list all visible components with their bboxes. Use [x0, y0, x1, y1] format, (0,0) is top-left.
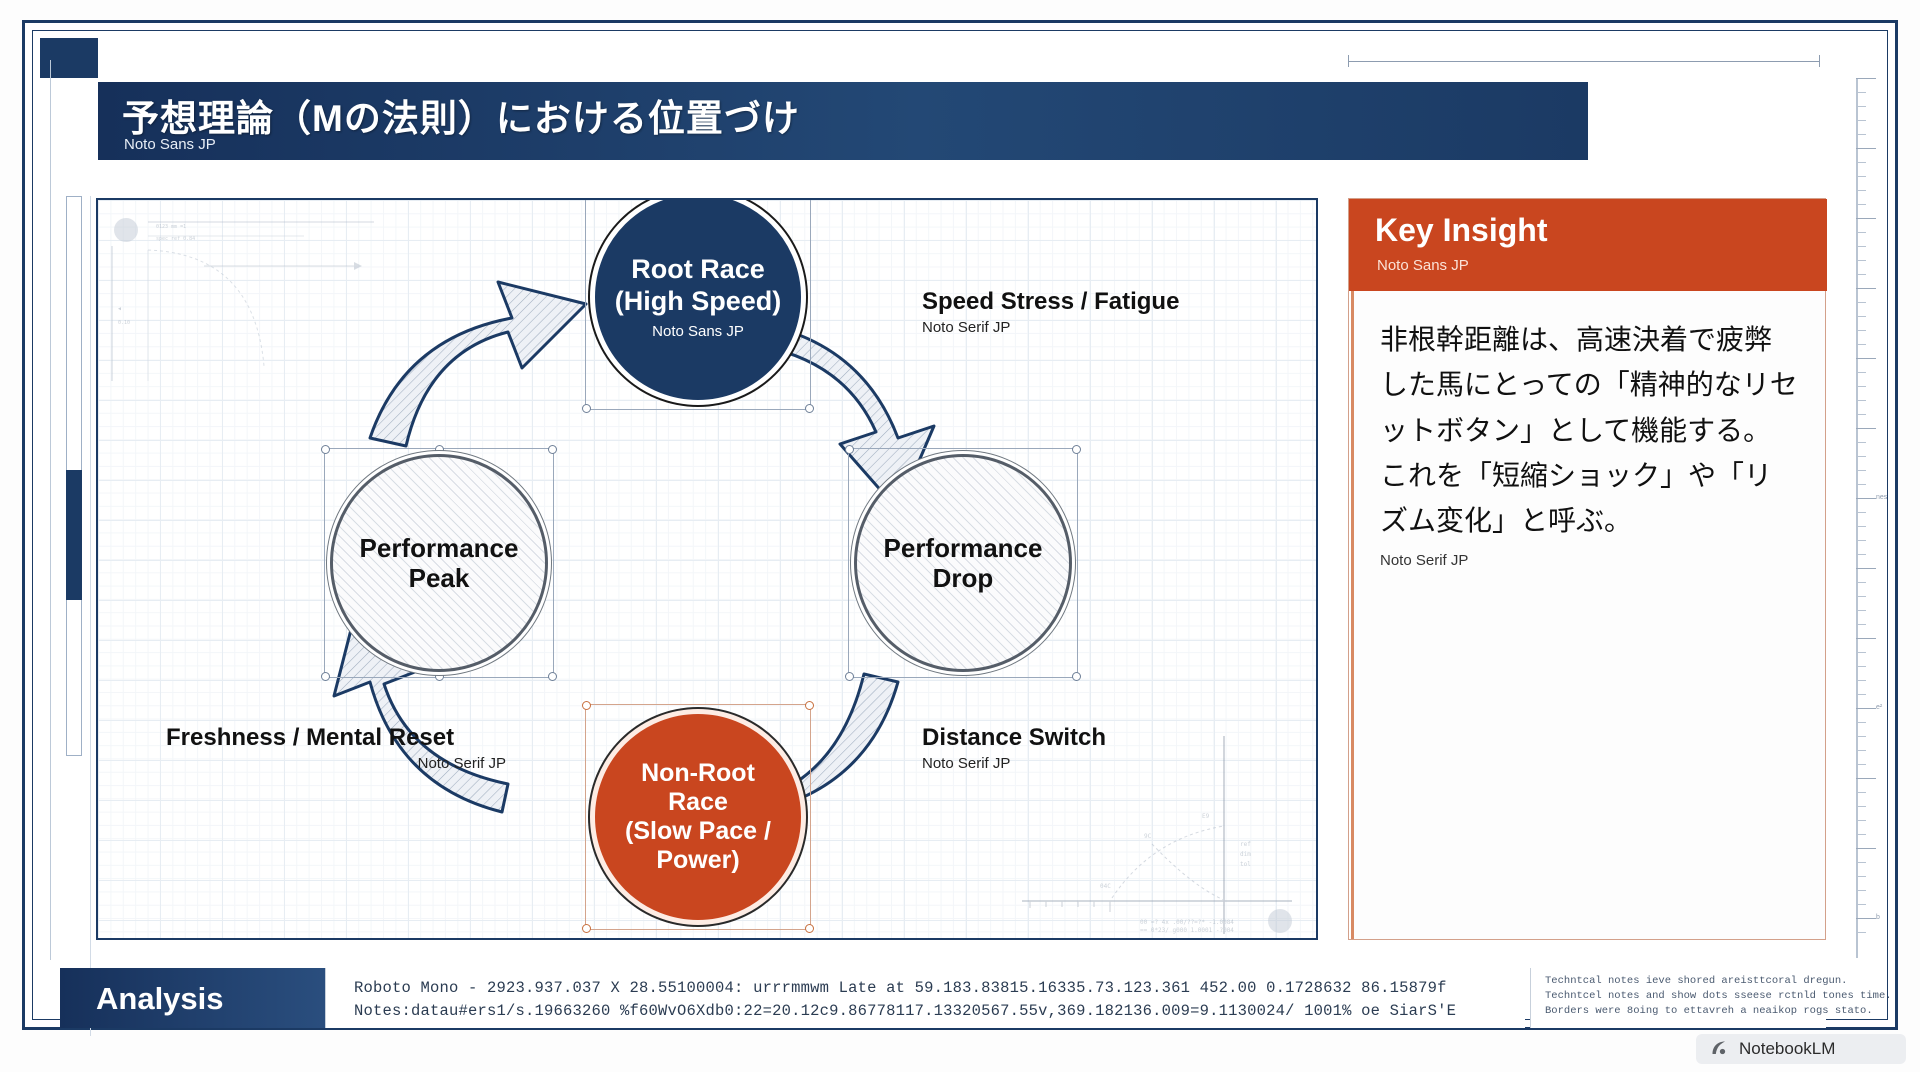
- key-insight-card: Key Insight Noto Sans JP 非根幹距離は、高速決着で疲弊し…: [1348, 198, 1826, 940]
- ruler-label: e²: [1876, 704, 1882, 711]
- ruler-tick: [1856, 792, 1866, 793]
- measurement-bracket: [1348, 55, 1820, 67]
- node-performance-drop-line2: Drop: [884, 563, 1043, 593]
- ruler-tick: [1856, 638, 1876, 639]
- ruler-tick: [1856, 358, 1876, 359]
- ruler-tick: [1856, 680, 1866, 681]
- ruler-tick: [1856, 666, 1866, 667]
- analysis-tab[interactable]: Analysis: [60, 968, 325, 1028]
- analysis-tab-label: Analysis: [96, 981, 224, 1017]
- ruler-tick: [1856, 540, 1866, 541]
- ruler-tick: [1856, 806, 1866, 807]
- node-root-race-line2: (High Speed): [615, 286, 782, 317]
- ruler-tick: [1856, 498, 1876, 499]
- resize-handle-br[interactable]: [805, 924, 814, 933]
- ruler-tick: [1856, 820, 1866, 821]
- ruler-tick: [1856, 190, 1866, 191]
- ruler-tick: [1856, 106, 1866, 107]
- flow-label-speed-stress-font-note: Noto Serif JP: [922, 319, 1179, 336]
- ruler-tick: [1856, 862, 1866, 863]
- notebooklm-watermark-label: NotebookLM: [1739, 1039, 1835, 1059]
- ruler-tick: [1856, 134, 1866, 135]
- ruler-tick: [1856, 778, 1876, 779]
- ruler-tick: [1856, 456, 1866, 457]
- ruler-tick: [1856, 708, 1876, 709]
- footer-mono-line-1: Roboto Mono - 2923.937.037 X 28.55100004…: [354, 977, 1525, 1000]
- resize-handle-tr[interactable]: [548, 445, 557, 454]
- left-guide-line: [50, 60, 51, 960]
- resize-handle-bl[interactable]: [582, 924, 591, 933]
- footer-notes-line-1: Techntcal notes ieve shored areisttcoral…: [1545, 974, 1826, 989]
- ruler-tick: [1856, 176, 1866, 177]
- ruler-tick: [1856, 750, 1866, 751]
- resize-handle-br[interactable]: [548, 672, 557, 681]
- node-performance-peak[interactable]: Performance Peak: [330, 454, 548, 672]
- ruler-tick: [1856, 260, 1866, 261]
- ruler-tick: [1856, 316, 1866, 317]
- flow-label-distance-switch-font-note: Noto Serif JP: [922, 755, 1106, 772]
- resize-handle-bc[interactable]: [435, 672, 444, 681]
- key-insight-body: 非根幹距離は、高速決着で疲弊した馬にとっての「精神的なリセットボタン」として機能…: [1351, 291, 1825, 939]
- flow-label-freshness-text: Freshness / Mental Reset: [166, 724, 506, 752]
- footer-notes-line-2: Techntcel notes and show dots sseese rct…: [1545, 989, 1826, 1004]
- node-non-root-race[interactable]: Non-Root Race (Slow Pace / Power): [590, 709, 806, 925]
- ruler-tick: [1856, 274, 1866, 275]
- ruler-tick: [1856, 400, 1866, 401]
- resize-handle-tl[interactable]: [582, 701, 591, 710]
- ruler-tick: [1856, 890, 1866, 891]
- ruler-tick: [1856, 372, 1866, 373]
- ruler-tick: [1856, 722, 1866, 723]
- ruler-tick: [1856, 610, 1866, 611]
- key-insight-title: Key Insight: [1375, 212, 1547, 249]
- node-performance-drop[interactable]: Performance Drop: [854, 454, 1072, 672]
- ruler-tick: [1856, 428, 1876, 429]
- ruler-tick: [1856, 386, 1866, 387]
- node-non-root-race-line1: Non-Root: [625, 759, 771, 788]
- ruler-tick: [1856, 330, 1866, 331]
- resize-handle-tc[interactable]: [435, 445, 444, 454]
- ruler-tick: [1856, 582, 1866, 583]
- node-root-race-line1: Root Race: [615, 254, 782, 285]
- ruler-tick: [1856, 344, 1866, 345]
- resize-handle-tl[interactable]: [321, 445, 330, 454]
- ruler-tick: [1856, 148, 1876, 149]
- footer-notes-line-3: Borders were 8oing to ettavreh a neaikop…: [1545, 1004, 1826, 1019]
- flow-label-freshness: Freshness / Mental Reset Noto Serif JP: [166, 724, 506, 772]
- flow-label-speed-stress: Speed Stress / Fatigue Noto Serif JP: [922, 288, 1179, 336]
- flow-label-freshness-font-note: Noto Serif JP: [166, 755, 506, 772]
- flow-label-distance-switch: Distance Switch Noto Serif JP: [922, 724, 1106, 772]
- ruler-tick: [1856, 470, 1866, 471]
- footer-bar: Analysis Roboto Mono - 2923.937.037 X 28…: [60, 968, 1826, 1028]
- ruler-tick: [1856, 652, 1866, 653]
- ruler-tick: [1856, 764, 1866, 765]
- ruler-tick: [1856, 834, 1866, 835]
- key-insight-header: Key Insight Noto Sans JP: [1349, 199, 1827, 291]
- resize-handle-tl[interactable]: [845, 445, 854, 454]
- ruler-tick: [1856, 624, 1866, 625]
- diagram-panel: 0123 mm =1 spec ref 0.84 0.10 ◀ E9 9C 04…: [96, 198, 1318, 940]
- ruler-tick: [1856, 484, 1866, 485]
- ruler-tick: [1856, 932, 1866, 933]
- ruler-tick: [1856, 442, 1866, 443]
- ruler-tick: [1856, 302, 1866, 303]
- ruler-tick: [1856, 288, 1876, 289]
- node-performance-peak-line1: Performance: [360, 533, 519, 563]
- ruler-tick: [1856, 414, 1866, 415]
- ruler-label: nes: [1876, 494, 1887, 501]
- ruler-tick: [1856, 512, 1866, 513]
- node-root-race[interactable]: Root Race (High Speed) Noto Sans JP: [590, 198, 806, 405]
- ruler-tick: [1856, 568, 1876, 569]
- ruler-tick: [1856, 596, 1866, 597]
- ruler-tick: [1856, 78, 1876, 79]
- footer-technical-notes: Techntcal notes ieve shored areisttcoral…: [1530, 968, 1826, 1028]
- resize-handle-bl[interactable]: [582, 404, 591, 413]
- ruler-tick: [1856, 218, 1876, 219]
- ruler-tick: [1856, 554, 1866, 555]
- notebooklm-spark-icon: [1710, 1039, 1730, 1059]
- flow-label-speed-stress-text: Speed Stress / Fatigue: [922, 288, 1179, 316]
- resize-handle-br[interactable]: [1072, 672, 1081, 681]
- slide-root: {} nese²b 予想理論（Mの法則）における位置づけ Noto Sans J…: [0, 0, 1920, 1072]
- ruler-tick: [1856, 92, 1866, 93]
- node-performance-drop-line1: Performance: [884, 533, 1043, 563]
- page-title: 予想理論（Mの法則）における位置づけ: [122, 88, 800, 142]
- left-guide-line-secondary: [90, 196, 91, 1036]
- ruler-tick: [1856, 232, 1866, 233]
- ruler-tick: [1856, 918, 1876, 919]
- ruler-tick: [1856, 694, 1866, 695]
- ruler-tick: [1856, 246, 1866, 247]
- ruler-label: b: [1876, 914, 1880, 921]
- page-title-font-note: Noto Sans JP: [124, 136, 216, 153]
- footer-mono-readout: Roboto Mono - 2923.937.037 X 28.55100004…: [325, 968, 1525, 1028]
- node-root-race-font-note: Noto Sans JP: [652, 323, 744, 340]
- ruler-tick: [1856, 904, 1866, 905]
- ruler-tick: [1856, 736, 1866, 737]
- notebooklm-watermark: NotebookLM: [1696, 1034, 1906, 1064]
- vertical-scrollbar-thumb[interactable]: [66, 470, 82, 600]
- ruler-tick: [1856, 204, 1866, 205]
- resize-handle-br[interactable]: [805, 404, 814, 413]
- ruler-spine: [1856, 78, 1858, 958]
- resize-handle-tr[interactable]: [805, 701, 814, 710]
- ruler-tick: [1856, 120, 1866, 121]
- ruler-tick: [1856, 876, 1866, 877]
- node-non-root-race-line2: Race: [625, 788, 771, 817]
- node-non-root-race-line3: (Slow Pace /: [625, 817, 771, 846]
- node-non-root-race-line4: Power): [625, 846, 771, 875]
- resize-handle-bl[interactable]: [845, 672, 854, 681]
- node-performance-peak-line2: Peak: [360, 563, 519, 593]
- right-ruler: {} nese²b: [1846, 78, 1880, 958]
- ruler-tick: [1856, 526, 1866, 527]
- resize-handle-bl[interactable]: [321, 672, 330, 681]
- key-insight-title-font-note: Noto Sans JP: [1377, 257, 1469, 274]
- footer-mono-line-2: Notes:datau#ers1/s.19663260 %f60WvO6Xdb0…: [354, 1000, 1525, 1023]
- ruler-tick: [1856, 848, 1876, 849]
- resize-handle-tr[interactable]: [1072, 445, 1081, 454]
- key-insight-body-font-note: Noto Serif JP: [1380, 552, 1799, 569]
- slide-header-bar: 予想理論（Mの法則）における位置づけ Noto Sans JP: [98, 82, 1588, 160]
- ruler-tick: [1856, 162, 1866, 163]
- flow-label-distance-switch-text: Distance Switch: [922, 724, 1106, 752]
- key-insight-body-text: 非根幹距離は、高速決着で疲弊した馬にとっての「精神的なリセットボタン」として機能…: [1380, 317, 1799, 544]
- corner-accent-block: [40, 38, 98, 78]
